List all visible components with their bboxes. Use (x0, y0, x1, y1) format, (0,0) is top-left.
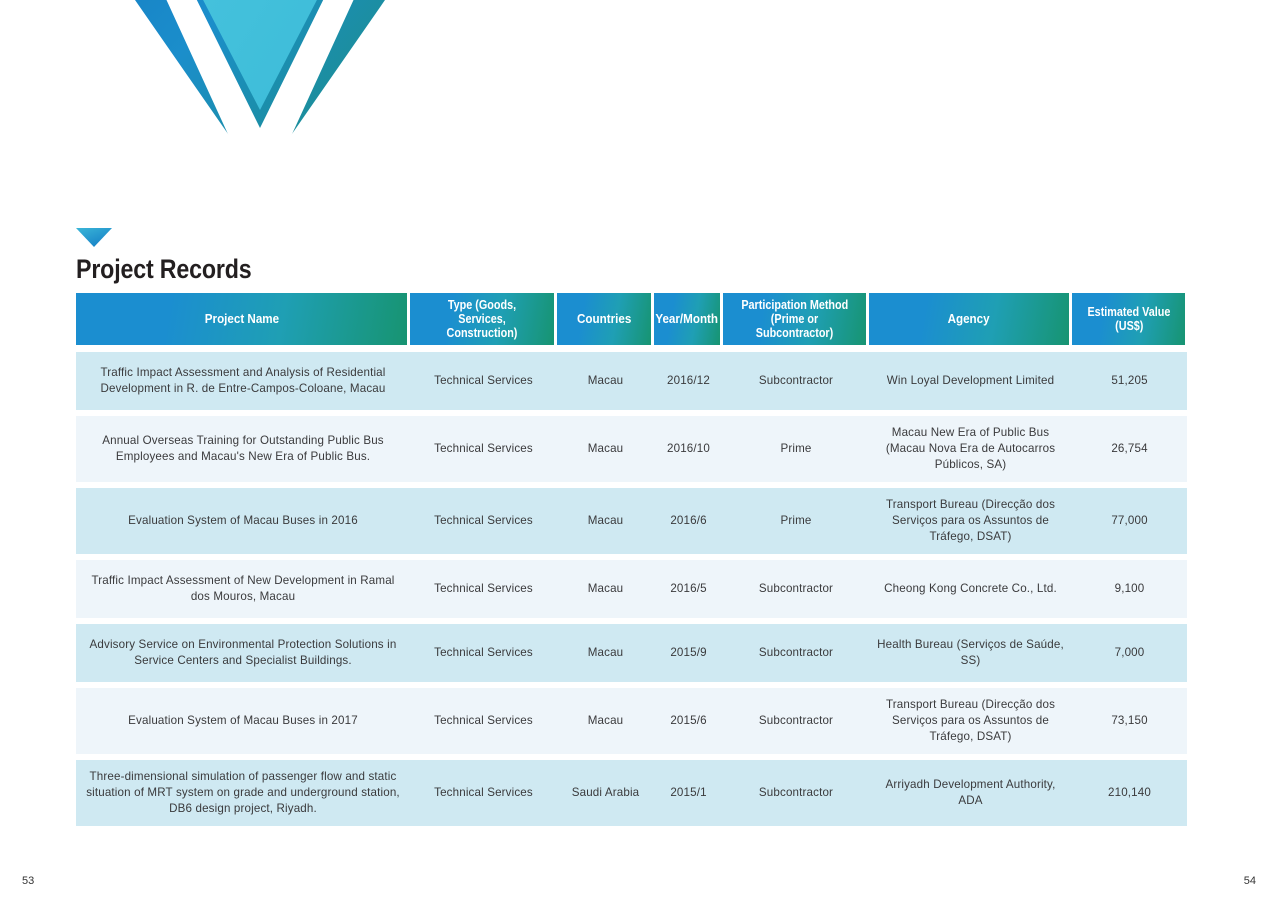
column-header-estimated-value: Estimated Value (US$) (1072, 293, 1185, 345)
cell-type: Technical Services (410, 636, 557, 670)
cell-estimated-value: 26,754 (1072, 432, 1187, 466)
cell-estimated-value: 9,100 (1072, 572, 1187, 606)
cell-agency: Transport Bureau (Direcção dos Serviços … (869, 688, 1072, 754)
column-header-countries: Countries (557, 293, 651, 345)
cell-type: Technical Services (410, 704, 557, 738)
table-row: Evaluation System of Macau Buses in 2016… (76, 488, 1187, 554)
cell-estimated-value: 210,140 (1072, 776, 1187, 810)
table-row: Three-dimensional simulation of passenge… (76, 760, 1187, 826)
cell-project-name: Evaluation System of Macau Buses in 2016 (76, 504, 410, 538)
cell-agency: Transport Bureau (Direcção dos Serviços … (869, 488, 1072, 554)
cell-participation: Prime (723, 504, 869, 538)
section-header: Project Records (76, 228, 676, 285)
chevron-logo-graphic (0, 0, 520, 200)
column-header-type-text: Type (Goods, Services, Construction) (419, 298, 545, 340)
cell-countries: Macau (557, 704, 654, 738)
cell-project-name: Annual Overseas Training for Outstanding… (76, 424, 410, 474)
cell-agency: Arriyadh Development Authority, ADA (869, 768, 1072, 818)
cell-estimated-value: 7,000 (1072, 636, 1187, 670)
cell-estimated-value: 73,150 (1072, 704, 1187, 738)
cell-project-name: Traffic Impact Assessment of New Develop… (76, 564, 410, 614)
column-header-countries-text: Countries (577, 312, 631, 326)
cell-type: Technical Services (410, 776, 557, 810)
table-row: Evaluation System of Macau Buses in 2017… (76, 688, 1187, 754)
table-body: Traffic Impact Assessment and Analysis o… (76, 352, 1187, 826)
cell-participation: Prime (723, 432, 869, 466)
type-line-1: Type (Goods, Services, (423, 298, 541, 326)
table-header-row: Project Name Type (Goods, Services, Cons… (76, 293, 1187, 345)
cell-agency: Health Bureau (Serviços de Saúde, SS) (869, 628, 1072, 678)
cell-project-name: Three-dimensional simulation of passenge… (76, 760, 410, 826)
cell-year-month: 2016/5 (654, 572, 723, 606)
page-title: Project Records (76, 247, 592, 285)
cell-participation: Subcontractor (723, 364, 869, 398)
cell-countries: Saudi Arabia (557, 776, 654, 810)
cell-year-month: 2016/10 (654, 432, 723, 466)
cell-agency: Cheong Kong Concrete Co., Ltd. (869, 572, 1072, 606)
column-header-year-month-text: Year/Month (656, 312, 719, 326)
cell-project-name: Advisory Service on Environmental Protec… (76, 628, 410, 678)
column-header-project-name: Project Name (76, 293, 407, 345)
project-records-table: Project Name Type (Goods, Services, Cons… (76, 293, 1187, 832)
cell-year-month: 2016/12 (654, 364, 723, 398)
triangle-down-icon (76, 228, 112, 247)
value-line-2: (US$) (1114, 319, 1142, 333)
cell-participation: Subcontractor (723, 572, 869, 606)
cell-countries: Macau (557, 572, 654, 606)
cell-agency: Macau New Era of Public Bus (Macau Nova … (869, 416, 1072, 482)
cell-type: Technical Services (410, 504, 557, 538)
cell-estimated-value: 77,000 (1072, 504, 1187, 538)
cell-year-month: 2015/9 (654, 636, 723, 670)
table-row: Traffic Impact Assessment of New Develop… (76, 560, 1187, 618)
column-header-agency-text: Agency (948, 312, 990, 326)
table-row: Traffic Impact Assessment and Analysis o… (76, 352, 1187, 410)
value-line-1: Estimated Value (1087, 305, 1170, 319)
cell-agency: Win Loyal Development Limited (869, 364, 1072, 398)
table-row: Annual Overseas Training for Outstanding… (76, 416, 1187, 482)
cell-project-name: Traffic Impact Assessment and Analysis o… (76, 356, 410, 406)
column-header-participation-text: Participation Method (Prime or Subcontra… (732, 298, 858, 340)
cell-type: Technical Services (410, 432, 557, 466)
table-row: Advisory Service on Environmental Protec… (76, 624, 1187, 682)
cell-type: Technical Services (410, 572, 557, 606)
cell-project-name: Evaluation System of Macau Buses in 2017 (76, 704, 410, 738)
chevron-logo (0, 0, 520, 200)
participation-line-2: (Prime or Subcontractor) (736, 312, 853, 340)
page-number-left: 53 (22, 875, 34, 887)
type-line-2: Construction) (447, 326, 518, 340)
cell-countries: Macau (557, 432, 654, 466)
cell-year-month: 2015/6 (654, 704, 723, 738)
column-header-type: Type (Goods, Services, Construction) (410, 293, 554, 345)
cell-participation: Subcontractor (723, 636, 869, 670)
cell-countries: Macau (557, 364, 654, 398)
cell-year-month: 2015/1 (654, 776, 723, 810)
column-header-project-name-text: Project Name (204, 312, 278, 326)
cell-estimated-value: 51,205 (1072, 364, 1187, 398)
participation-line-1: Participation Method (741, 298, 848, 312)
cell-type: Technical Services (410, 364, 557, 398)
column-header-year-month: Year/Month (654, 293, 720, 345)
chevron-inner (110, 0, 410, 110)
column-header-agency: Agency (869, 293, 1069, 345)
cell-year-month: 2016/6 (654, 504, 723, 538)
column-header-participation-method: Participation Method (Prime or Subcontra… (723, 293, 866, 345)
cell-participation: Subcontractor (723, 704, 869, 738)
cell-countries: Macau (557, 636, 654, 670)
chevron-gap (84, 0, 436, 200)
page-number-right: 54 (1244, 875, 1256, 887)
chevron-outer (10, 0, 510, 180)
cell-participation: Subcontractor (723, 776, 869, 810)
column-header-estimated-value-text: Estimated Value (US$) (1084, 305, 1173, 333)
cell-countries: Macau (557, 504, 654, 538)
